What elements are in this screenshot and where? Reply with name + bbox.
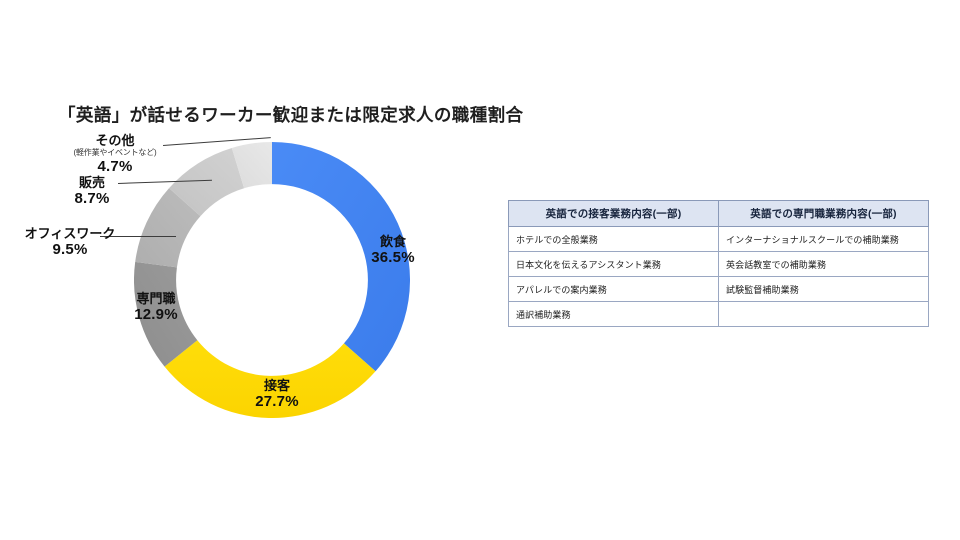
pie-label-other-category: その他 <box>52 133 178 148</box>
pie-label-sales-category: 販売 <box>44 175 140 190</box>
pie-label-office-work: オフィスワーク 9.5% <box>8 226 132 259</box>
table-row: アパレルでの案内業務 試験監督補助業務 <box>509 277 929 302</box>
table-cell-specialist-2: 英会話教室での補助業務 <box>719 252 929 277</box>
pie-label-other: その他 (軽作業やイベントなど) 4.7% <box>52 133 178 175</box>
page-title: 「英語」が話せるワーカー歓迎または限定求人の職種割合 <box>58 102 523 127</box>
pie-label-other-sublabel: (軽作業やイベントなど) <box>52 148 178 157</box>
slide-canvas: 「英語」が話せるワーカー歓迎または限定求人の職種割合 <box>0 0 960 540</box>
english-duties-table: 英語での接客業務内容(一部) 英語での専門職業務内容(一部) ホテルでの全般業務… <box>508 200 929 327</box>
pie-label-office-work-category: オフィスワーク <box>8 226 132 241</box>
pie-label-customer-service-value: 27.7% <box>224 393 330 411</box>
table-cell-specialist-1: インターナショナルスクールでの補助業務 <box>719 227 929 252</box>
pie-label-sales-value: 8.7% <box>44 190 140 208</box>
donut-chart <box>134 142 410 418</box>
table-cell-specialist-4 <box>719 302 929 327</box>
donut-chart-svg <box>134 142 410 418</box>
table-header-row: 英語での接客業務内容(一部) 英語での専門職業務内容(一部) <box>509 201 929 227</box>
table-header-customer-service: 英語での接客業務内容(一部) <box>509 201 719 227</box>
pie-label-sales: 販売 8.7% <box>44 175 140 208</box>
pie-label-customer-service-category: 接客 <box>224 378 330 393</box>
pie-label-customer-service: 接客 27.7% <box>224 378 330 411</box>
pie-label-food: 飲食 36.5% <box>340 234 446 267</box>
table-header-specialist: 英語での専門職業務内容(一部) <box>719 201 929 227</box>
pie-label-specialist-value: 12.9% <box>104 306 208 324</box>
pie-label-other-value: 4.7% <box>52 158 178 176</box>
pie-label-office-work-value: 9.5% <box>8 241 132 259</box>
pie-label-specialist-category: 専門職 <box>104 291 208 306</box>
table-row: 日本文化を伝えるアシスタント業務 英会話教室での補助業務 <box>509 252 929 277</box>
table-cell-customer-service-1: ホテルでの全般業務 <box>509 227 719 252</box>
table-cell-customer-service-3: アパレルでの案内業務 <box>509 277 719 302</box>
pie-label-food-value: 36.5% <box>340 249 446 267</box>
table-cell-specialist-3: 試験監督補助業務 <box>719 277 929 302</box>
table-row: 通訳補助業務 <box>509 302 929 327</box>
table-row: ホテルでの全般業務 インターナショナルスクールでの補助業務 <box>509 227 929 252</box>
pie-label-food-category: 飲食 <box>340 234 446 249</box>
pie-label-specialist: 専門職 12.9% <box>104 291 208 324</box>
table-cell-customer-service-2: 日本文化を伝えるアシスタント業務 <box>509 252 719 277</box>
table-cell-customer-service-4: 通訳補助業務 <box>509 302 719 327</box>
